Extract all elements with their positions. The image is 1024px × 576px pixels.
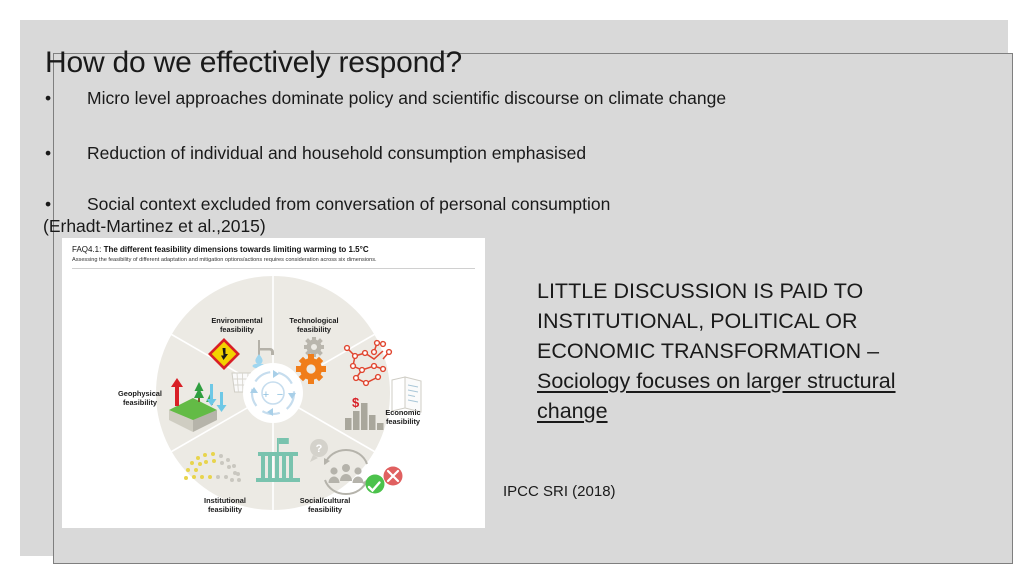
- approve-bubble-icon: [366, 475, 385, 494]
- reject-bubble-icon: [384, 467, 403, 486]
- document-folder-icon: [392, 377, 421, 412]
- bullet-citation: (Erhadt-Martinez et al.,2015): [43, 216, 266, 237]
- svg-text:?: ?: [316, 443, 323, 455]
- figure-title: FAQ4.1: The different feasibility dimens…: [72, 245, 369, 254]
- label-technological-line1: Technological: [289, 316, 338, 325]
- right-statement: LITTLE DISCUSSION IS PAID TO INSTITUTION…: [537, 276, 937, 426]
- label-environmental-line2: feasibility: [220, 325, 255, 334]
- ipcc-figure: FAQ4.1: The different feasibility dimens…: [62, 238, 485, 528]
- label-technological-line2: feasibility: [297, 325, 332, 334]
- right-statement-plain: LITTLE DISCUSSION IS PAID TO INSTITUTION…: [537, 279, 879, 363]
- label-geophysical-line1: Geophysical: [118, 389, 162, 398]
- bullet-marker-icon: •: [45, 88, 87, 109]
- wheel-center-hub: + −: [243, 363, 303, 423]
- slide-canvas: How do we effectively respond? •Micro le…: [0, 0, 1024, 576]
- bullet-marker-icon: •: [45, 143, 87, 164]
- bullet-item-1: •Micro level approaches dominate policy …: [45, 88, 975, 109]
- bullet-item-3: •Social context excluded from conversati…: [45, 194, 975, 215]
- label-social-cultural-line1: Social/cultural: [300, 496, 351, 505]
- bullet-text-2: Reduction of individual and household co…: [87, 143, 586, 163]
- right-statement-underlined: Sociology focuses on larger structural c…: [537, 369, 896, 423]
- figure-faq-id: FAQ4.1:: [72, 245, 104, 254]
- label-economic-line1: Economic: [385, 408, 420, 417]
- label-economic-line2: feasibility: [386, 417, 421, 426]
- feasibility-wheel: $: [62, 268, 485, 528]
- label-social-cultural-line2: feasibility: [308, 505, 343, 514]
- hub-minus-symbol: −: [277, 389, 283, 401]
- bullet-item-2: •Reduction of individual and household c…: [45, 143, 975, 164]
- page-title: How do we effectively respond?: [45, 46, 462, 80]
- right-source-citation: IPCC SRI (2018): [503, 483, 616, 500]
- label-environmental-line1: Environmental: [211, 316, 262, 325]
- dollar-sign-icon: $: [352, 395, 360, 410]
- figure-subtitle: Assessing the feasibility of different a…: [72, 257, 377, 263]
- figure-faq-heading: The different feasibility dimensions tow…: [104, 245, 369, 254]
- bullet-marker-icon: •: [45, 194, 87, 215]
- label-institutional-line2: feasibility: [208, 505, 243, 514]
- bullet-text-3: Social context excluded from conversatio…: [87, 194, 610, 214]
- bullet-text-1: Micro level approaches dominate policy a…: [87, 88, 726, 108]
- hub-plus-symbol: +: [263, 389, 269, 401]
- label-institutional-line1: Institutional: [204, 496, 246, 505]
- label-geophysical-line2: feasibility: [123, 398, 158, 407]
